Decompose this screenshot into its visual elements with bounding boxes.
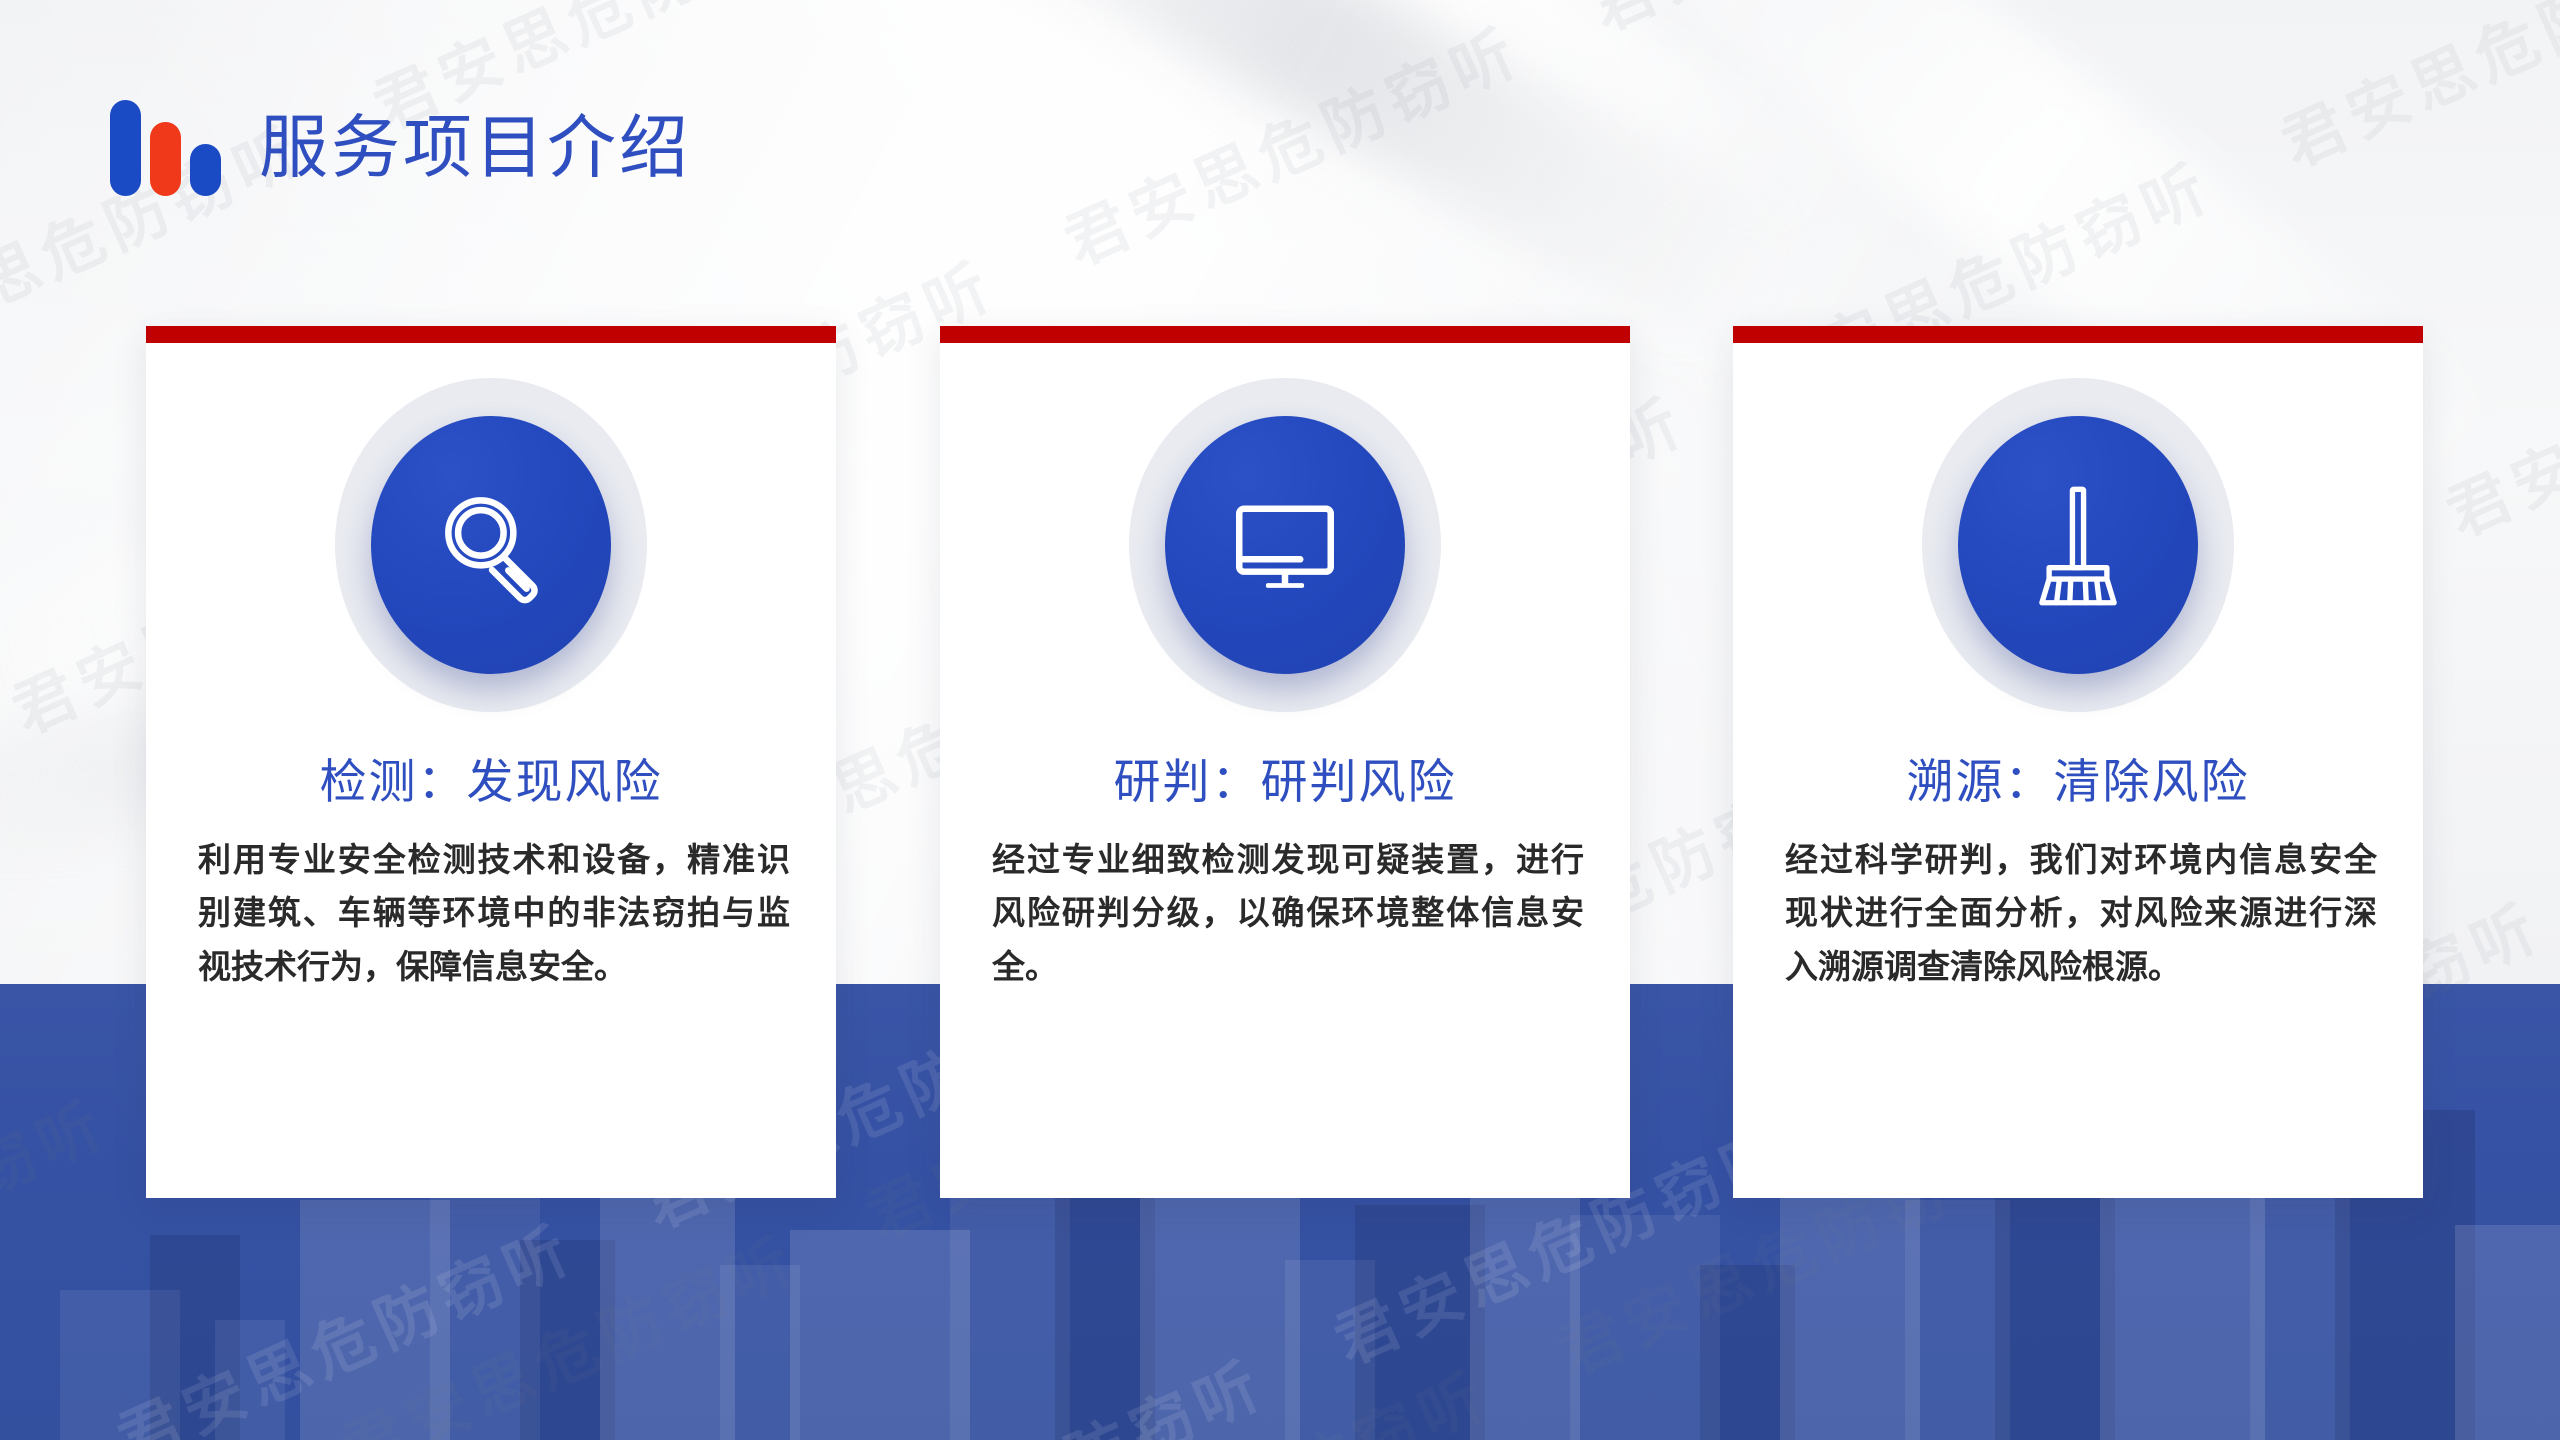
card-title: 检测：发现风险 xyxy=(146,743,836,812)
broom-icon xyxy=(2012,479,2144,611)
card-title: 研判：研判风险 xyxy=(940,743,1630,812)
card-description: 利用专业安全检测技术和设备，精准识别建筑、车辆等环境中的非法窃拍与监视技术行为，… xyxy=(198,833,790,993)
icon-disc xyxy=(1958,416,2198,674)
card-icon-wrapper xyxy=(331,375,651,715)
card-icon-wrapper xyxy=(1125,375,1445,715)
card-icon-wrapper xyxy=(1918,375,2238,715)
service-cards-container: 检测：发现风险 利用专业安全检测技术和设备，精准识别建筑、车辆等环境中的非法窃拍… xyxy=(0,0,2560,1440)
card-body: 检测：发现风险 利用专业安全检测技术和设备，精准识别建筑、车辆等环境中的非法窃拍… xyxy=(146,343,836,1198)
card-top-accent-bar xyxy=(146,326,836,343)
icon-disc xyxy=(371,416,611,674)
card-top-accent-bar xyxy=(940,326,1630,343)
card-body: 溯源：清除风险 经过科学研判，我们对环境内信息安全现状进行全面分析，对风险来源进… xyxy=(1733,343,2423,1198)
service-card[interactable]: 研判：研判风险 经过专业细致检测发现可疑装置，进行风险研判分级，以确保环境整体信… xyxy=(940,326,1630,1198)
magnifier-icon xyxy=(426,480,556,610)
card-title: 溯源：清除风险 xyxy=(1733,743,2423,812)
card-body: 研判：研判风险 经过专业细致检测发现可疑装置，进行风险研判分级，以确保环境整体信… xyxy=(940,343,1630,1198)
card-description: 经过专业细致检测发现可疑装置，进行风险研判分级，以确保环境整体信息安全。 xyxy=(992,833,1584,993)
service-card[interactable]: 检测：发现风险 利用专业安全检测技术和设备，精准识别建筑、车辆等环境中的非法窃拍… xyxy=(146,326,836,1198)
service-card[interactable]: 溯源：清除风险 经过科学研判，我们对环境内信息安全现状进行全面分析，对风险来源进… xyxy=(1733,326,2423,1198)
icon-disc xyxy=(1165,416,1405,674)
monitor-icon xyxy=(1224,484,1346,606)
card-description: 经过科学研判，我们对环境内信息安全现状进行全面分析，对风险来源进行深入溯源调查清… xyxy=(1785,833,2377,993)
card-top-accent-bar xyxy=(1733,326,2423,343)
